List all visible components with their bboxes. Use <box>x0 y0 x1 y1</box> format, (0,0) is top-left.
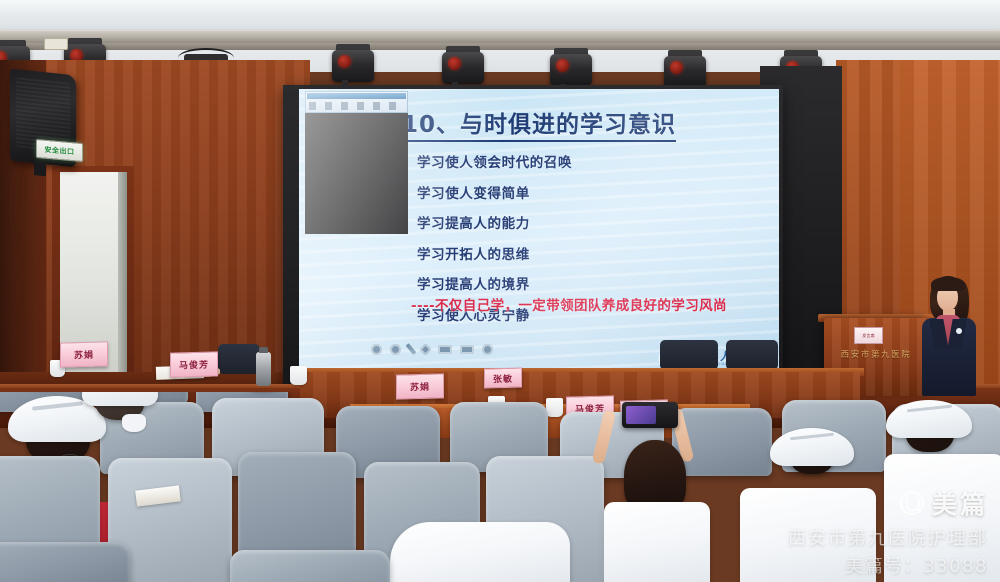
front-chair <box>726 340 778 370</box>
podium-engraving: 西安市第九医院 <box>828 348 924 360</box>
exit-sign: 安全出口 <box>36 139 83 162</box>
exit-sign-label: 安全出口 <box>45 144 75 157</box>
placard-name: 马俊芳 <box>179 358 209 372</box>
light-lens <box>448 57 461 70</box>
presenter-notes-panel <box>305 113 408 234</box>
presenter-bangs <box>931 277 965 291</box>
slide-bullet: 学习开拓人的思维 <box>417 243 757 263</box>
window-toolbar <box>309 102 404 110</box>
presenter-toolbar[interactable] <box>371 341 519 357</box>
slide-bullet: 学习提高人的能力 <box>417 212 757 232</box>
thermos-bottle <box>256 352 271 386</box>
light-body <box>332 50 374 82</box>
podium-sign: 发言席 <box>854 327 883 344</box>
water-cup <box>290 366 307 385</box>
slide-bullet: 学习使人变得简单 <box>417 182 757 202</box>
side-door-edge <box>118 172 127 390</box>
audience-area <box>0 392 1000 582</box>
wall-plate <box>44 38 68 50</box>
placard-name: 张敏 <box>493 371 513 385</box>
light-lens <box>338 55 351 68</box>
audience-white-coat <box>884 454 1000 582</box>
cap-fold <box>790 433 834 441</box>
light-body <box>550 54 592 86</box>
ceiling-truss <box>0 30 1000 43</box>
podium-sign-label: 发言席 <box>862 333 875 339</box>
front-chair <box>660 340 718 370</box>
stage-light <box>330 44 376 88</box>
light-lens <box>556 59 569 72</box>
name-placard: 张敏 <box>484 368 522 389</box>
presenter <box>916 276 982 396</box>
laser-icon[interactable] <box>390 344 401 355</box>
lecture-hall-photo: 安全出口 10、与时俱进的学习意识 学习使人领会时代的召唤 学习使人变得简单 学… <box>0 0 1000 582</box>
name-placard: 马俊芳 <box>170 351 218 377</box>
slide-bullet: 学习提高人的境界 <box>417 273 757 293</box>
stage-light <box>440 46 486 90</box>
more-options-icon[interactable] <box>482 344 493 355</box>
projection-screen: 10、与时俱进的学习意识 学习使人领会时代的召唤 学习使人变得简单 学习提高人的… <box>299 89 779 372</box>
seat[interactable] <box>230 550 390 582</box>
highlighter-icon[interactable] <box>419 343 432 356</box>
placard-name: 苏娟 <box>74 348 94 362</box>
front-chair <box>218 344 260 374</box>
audience-phone-camera[interactable] <box>622 402 678 428</box>
window-titlebar <box>307 93 406 99</box>
audience-white-coat <box>390 522 570 582</box>
ceiling-highlight <box>0 0 1000 14</box>
pointer-icon[interactable] <box>371 344 382 355</box>
presenter-badge <box>956 328 962 334</box>
slide-view-icon[interactable] <box>438 345 452 354</box>
phone-screen <box>626 406 656 424</box>
ceiling-truss-lower <box>0 43 1000 50</box>
speaker-bracket <box>34 161 46 176</box>
pen-icon[interactable] <box>406 343 417 355</box>
name-placard: 苏娟 <box>60 341 108 367</box>
light-body <box>664 56 706 88</box>
seat[interactable] <box>0 542 130 582</box>
cap-fold <box>31 402 82 411</box>
cap-fold <box>907 404 952 412</box>
audience-white-coat <box>740 488 876 582</box>
presenter-window-chrome[interactable] <box>305 91 408 113</box>
slide-closing-statement: ----不仅自己学，一定带领团队养成良好的学习风尚 <box>411 294 779 314</box>
thumbnails-icon[interactable] <box>460 345 474 354</box>
face-mask <box>122 414 146 432</box>
audience-white-coat <box>604 502 710 582</box>
light-body <box>442 52 484 84</box>
light-lens <box>670 61 683 74</box>
slide-bullet: 学习使人领会时代的召唤 <box>417 151 757 171</box>
slide-title-text: 10、与时俱进的学习意识 <box>402 112 676 142</box>
nurse-cap <box>82 392 158 406</box>
